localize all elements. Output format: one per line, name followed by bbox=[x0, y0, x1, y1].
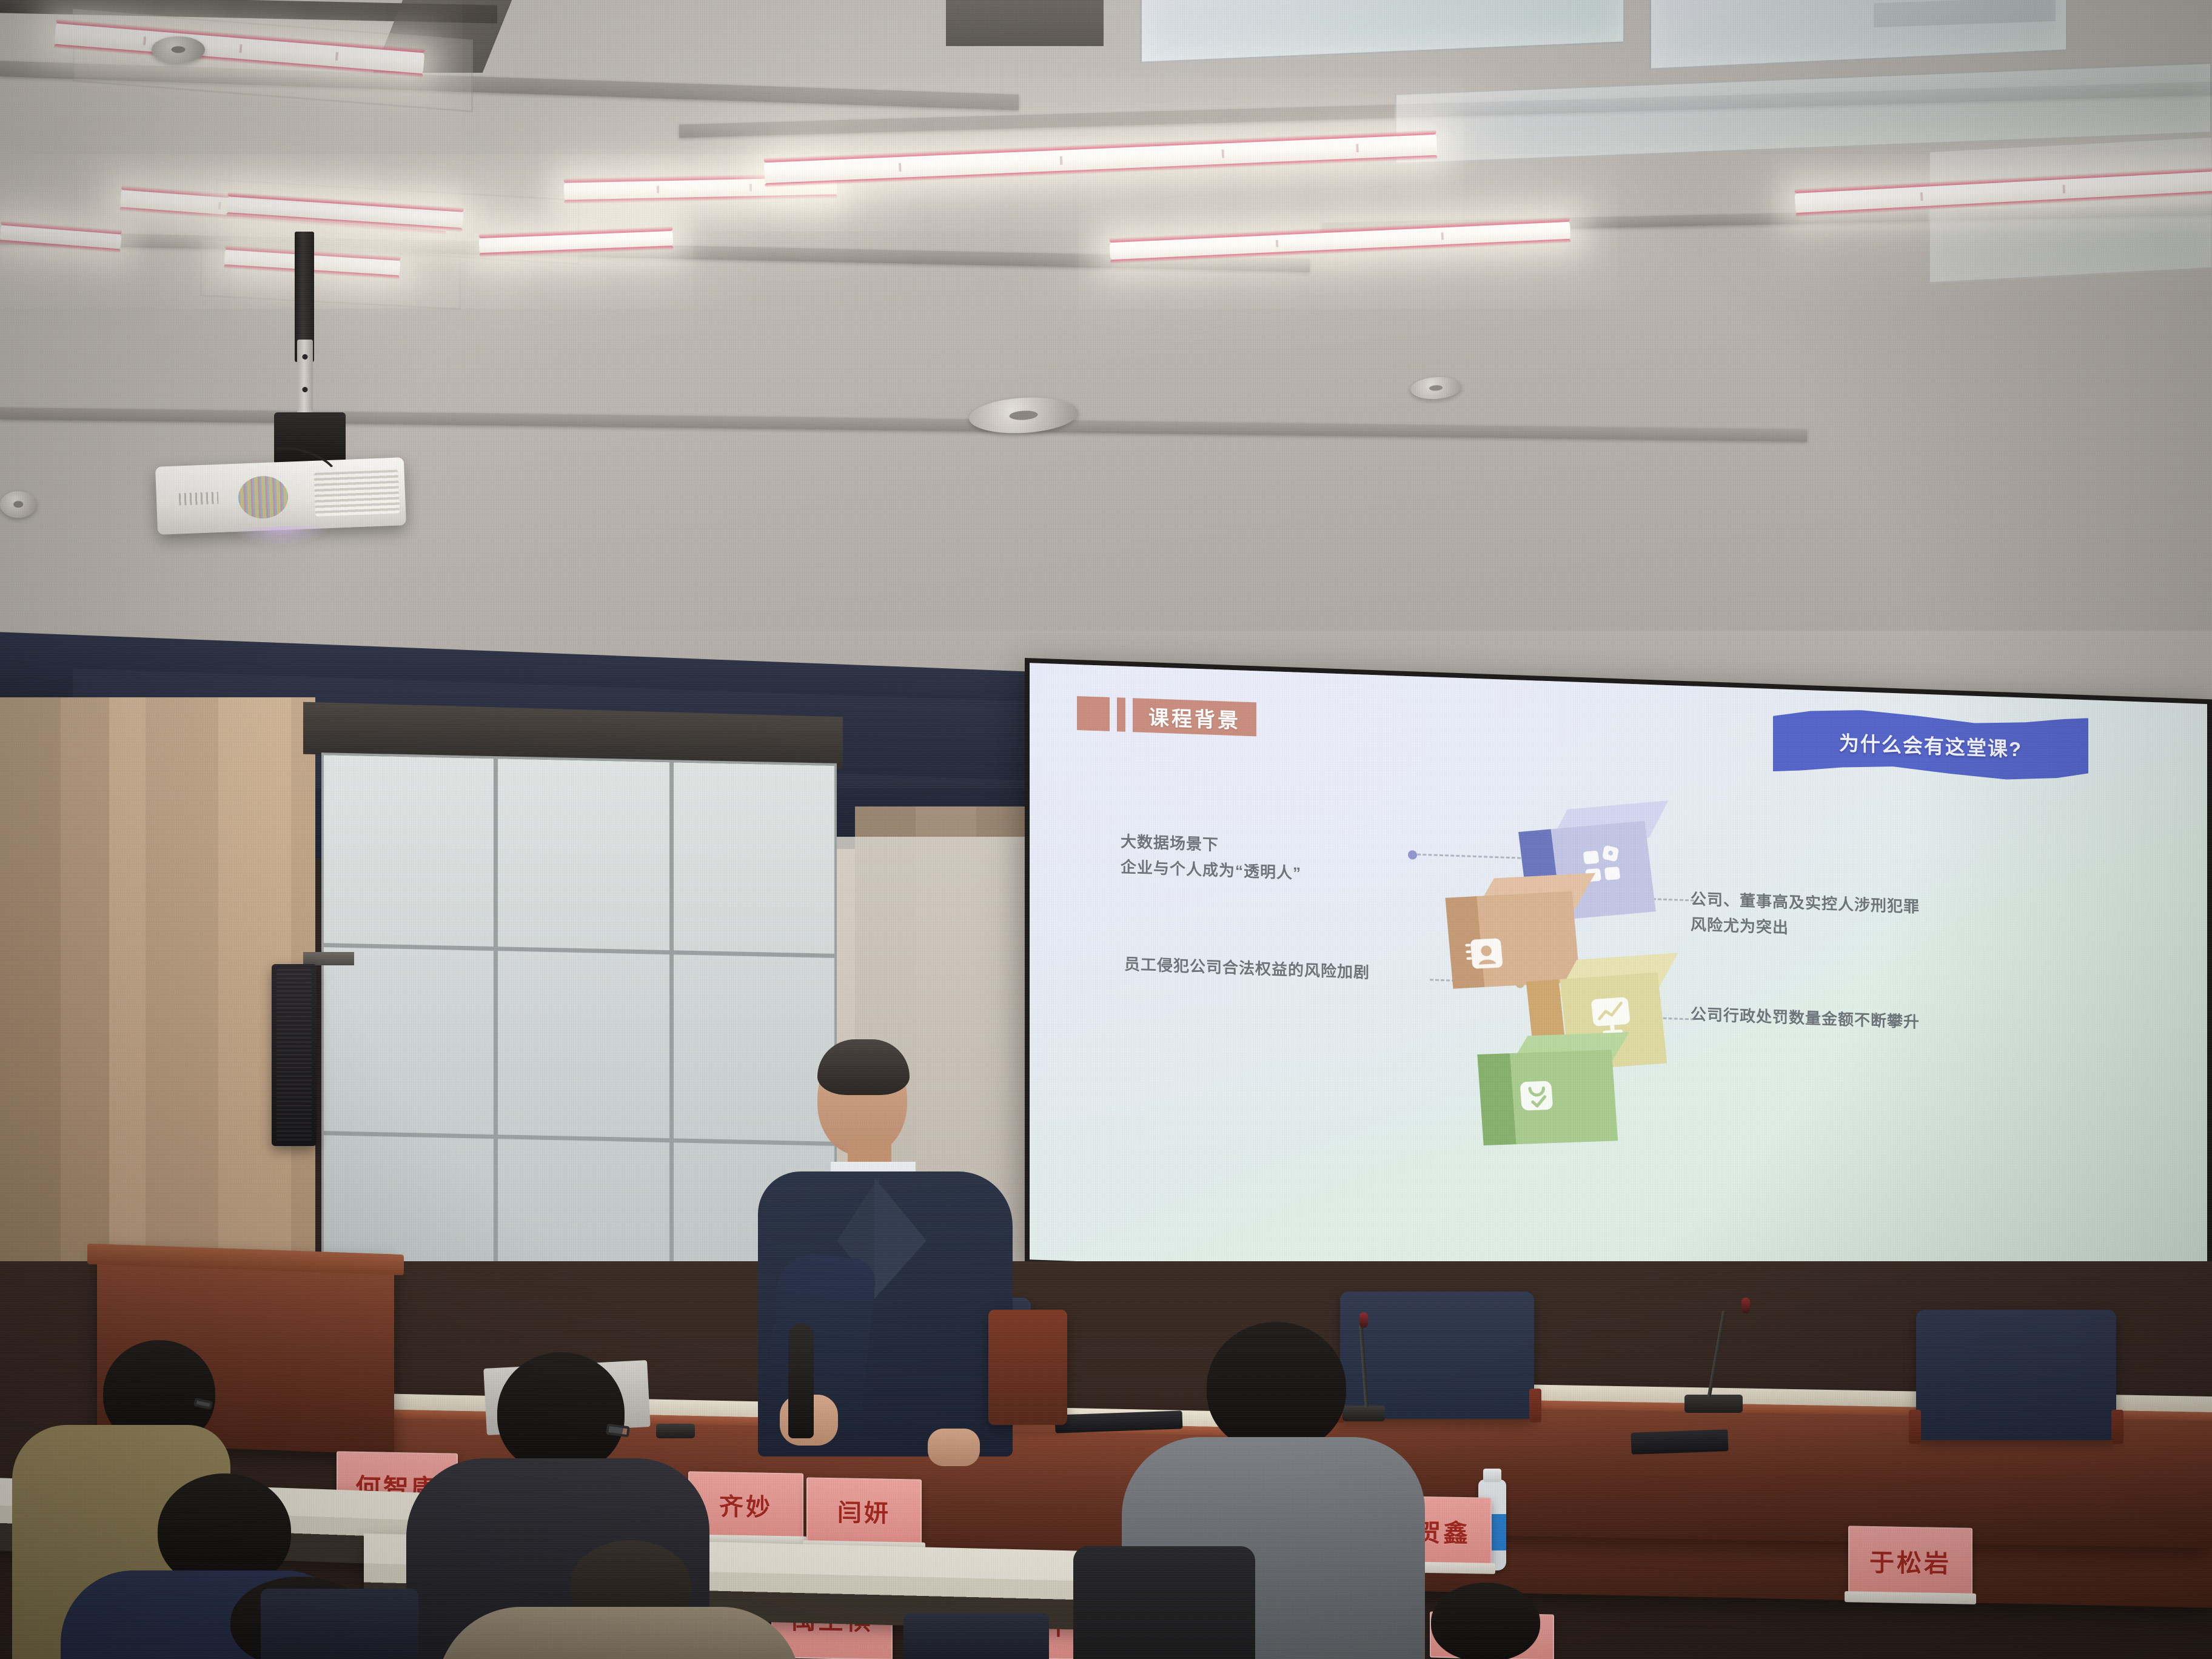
speaker-bracket bbox=[303, 952, 354, 965]
id-card-icon bbox=[1463, 934, 1509, 974]
gooseneck-mic-base bbox=[1684, 1395, 1743, 1413]
slide-section-tag: 课程背景 bbox=[1077, 696, 1256, 736]
smoke-detector-icon bbox=[0, 491, 36, 518]
audience-body bbox=[437, 1607, 800, 1659]
placard-name: 齐妙 bbox=[719, 1487, 773, 1523]
name-placard[interactable]: 闫妍 bbox=[806, 1477, 922, 1544]
slide-ribbon-banner: 为什么会有这堂课? bbox=[1773, 707, 2088, 782]
ceiling-lightbox bbox=[1140, 0, 1625, 64]
slide-callout-4: 公司行政处罚数量金额不断攀升 bbox=[1691, 1001, 2030, 1039]
placard-name: 于松岩 bbox=[1869, 1542, 1951, 1580]
ceiling-lightbox bbox=[1928, 136, 2212, 284]
placard-name: 闫妍 bbox=[837, 1493, 891, 1529]
cube-green bbox=[1476, 1034, 1584, 1139]
presentation-slide: 课程背景 为什么会有这堂课? 大数据场景下 企业与个人成为“透明人” 员工侵犯公… bbox=[1030, 663, 2207, 1301]
audience-head bbox=[1207, 1322, 1346, 1452]
panel-chair bbox=[1916, 1310, 2116, 1440]
ceiling-lightbox bbox=[1649, 0, 2068, 70]
monitor-chart-icon bbox=[1586, 994, 1637, 1038]
tag-block-icon bbox=[1077, 696, 1110, 731]
connector-dot-1 bbox=[1408, 850, 1417, 860]
audience-member bbox=[461, 1540, 776, 1659]
slide-section-label: 课程背景 bbox=[1133, 698, 1256, 736]
ceiling-light-tube bbox=[0, 224, 122, 249]
cube-illustration bbox=[1448, 805, 1733, 1154]
backpack bbox=[1073, 1546, 1255, 1659]
slide-callout-2: 公司、董事高及实控人涉刑犯罪 风险尤为突出 bbox=[1691, 886, 2006, 948]
projector-mount-pole-lower bbox=[297, 340, 313, 418]
ceiling-light-tube bbox=[479, 230, 674, 253]
ceiling bbox=[0, 0, 2212, 661]
wood-wall-left bbox=[0, 697, 109, 1328]
smoke-detector-icon bbox=[1410, 376, 1461, 400]
ceiling-beam bbox=[0, 407, 1807, 441]
gooseneck-mic-head bbox=[1741, 1298, 1750, 1313]
slide-ribbon-text: 为什么会有这堂课? bbox=[1839, 727, 2022, 763]
lecture-hall-photo: 课程背景 为什么会有这堂课? 大数据场景下 企业与个人成为“透明人” 员工侵犯公… bbox=[0, 0, 2212, 1659]
audience-member bbox=[1116, 1322, 1431, 1659]
ceiling-light-tube bbox=[764, 134, 1438, 184]
wood-chair bbox=[988, 1310, 1067, 1425]
wall-speaker bbox=[272, 964, 317, 1146]
presenter-hand bbox=[928, 1429, 980, 1466]
presenter-hair bbox=[817, 1039, 910, 1095]
audience-chair bbox=[903, 1613, 1049, 1659]
desk-item bbox=[1631, 1429, 1728, 1455]
slide-callout-1: 大数据场景下 企业与个人成为“透明人” bbox=[1121, 829, 1406, 890]
slide-callout-3: 员工侵犯公司合法权益的风险加剧 bbox=[1124, 951, 1452, 988]
slide-callout-4-line1: 公司行政处罚数量金额不断攀升 bbox=[1691, 1001, 2030, 1039]
handheld-microphone bbox=[788, 1323, 814, 1438]
name-placard[interactable]: 于松岩 bbox=[1848, 1526, 1972, 1596]
slide-callout-3-line1: 员工侵犯公司合法权益的风险加剧 bbox=[1124, 951, 1452, 988]
ceiling-light-tube bbox=[1110, 221, 1571, 260]
shopping-bag-icon bbox=[1514, 1074, 1560, 1116]
audience-chair bbox=[261, 1589, 418, 1659]
ceiling-grid-band bbox=[946, 0, 1104, 46]
audience-head bbox=[497, 1352, 625, 1473]
projection-screen: 课程背景 为什么会有这堂课? 大数据场景下 企业与个人成为“透明人” 员工侵犯公… bbox=[1025, 658, 2212, 1305]
smoke-detector-icon bbox=[152, 36, 205, 63]
audience-head bbox=[1431, 1583, 1540, 1659]
audience-member bbox=[1389, 1583, 1583, 1659]
tag-bar-icon bbox=[1117, 697, 1125, 731]
